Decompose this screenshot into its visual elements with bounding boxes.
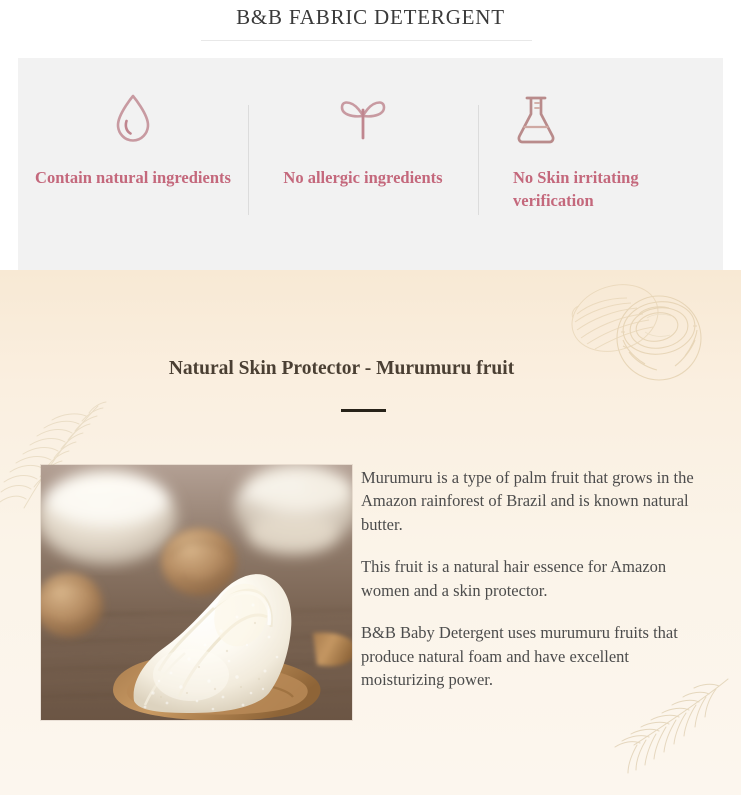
detail-paragraph: Murumuru is a type of palm fruit that gr… [361,466,701,536]
detail-paragraph: This fruit is a natural hair essence for… [361,555,701,602]
feature-item-natural-ingredients: Contain natural ingredients [18,58,248,270]
feature-label: Contain natural ingredients [18,166,248,189]
feature-item-no-skin-irritation: No Skin irritating verification [478,58,723,270]
detail-paragraph: B&B Baby Detergent uses murumuru fruits … [361,621,701,691]
detail-heading: Natural Skin Protector - Murumuru fruit [0,358,741,380]
detail-section: Natural Skin Protector - Murumuru fruit [0,270,741,795]
product-photo [41,465,352,720]
page-title: B&B FABRIC DETERGENT [0,5,741,30]
sprout-icon [248,92,478,142]
feature-item-no-allergic-ingredients: No allergic ingredients [248,58,478,270]
feature-label: No allergic ingredients [248,166,478,189]
feature-label: No Skin irritating verification [513,166,713,213]
title-underline-rule [201,40,532,41]
heading-divider-rule [341,409,386,412]
water-drop-icon [18,92,248,148]
detail-copy: Murumuru is a type of palm fruit that gr… [361,466,701,691]
page-header: B&B FABRIC DETERGENT [0,0,741,58]
flask-icon [478,92,723,148]
features-panel: Contain natural ingredients No allergic … [18,58,723,270]
